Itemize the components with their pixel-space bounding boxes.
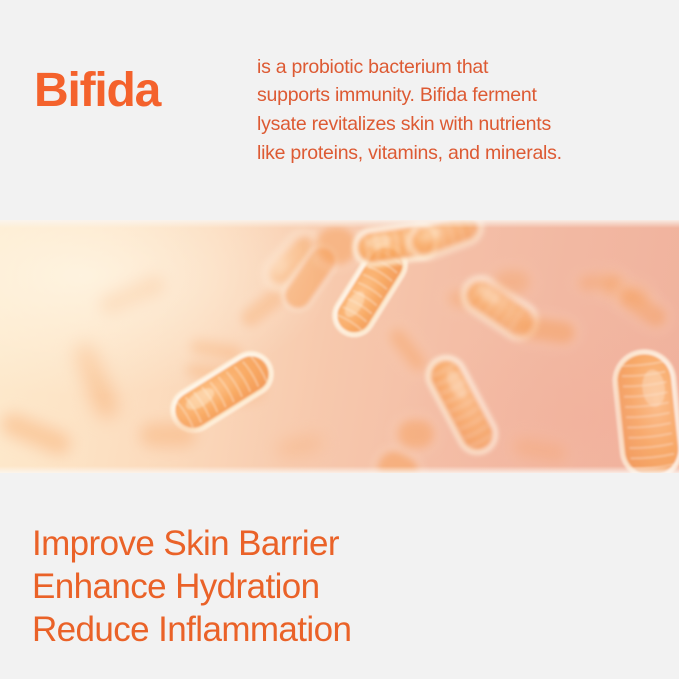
bacterium-shape	[134, 417, 202, 453]
bacterium-shape	[392, 414, 440, 454]
bacterium-shape	[63, 331, 129, 429]
bacterium-shape	[268, 426, 333, 466]
benefit-line: Enhance Hydration	[32, 565, 320, 608]
page-title: Bifida	[34, 62, 160, 120]
bacterium-shape	[488, 264, 536, 300]
bacterium-shape	[507, 308, 583, 352]
bacterium-shape	[609, 346, 679, 473]
bacterium-shape	[89, 264, 175, 324]
intro-section: Bifida is a probiotic bacterium that sup…	[0, 0, 679, 220]
bacteria-hero-image	[0, 220, 679, 473]
bacteria-illustration	[0, 220, 679, 473]
ingredient-description: is a probiotic bacterium that supports i…	[257, 53, 661, 168]
benefit-line: Reduce Inflammation	[32, 608, 351, 651]
benefits-section: Improve Skin Barrier Enhance Hydration R…	[0, 473, 679, 679]
benefit-line: Improve Skin Barrier	[32, 522, 339, 565]
bacterium-shape	[504, 428, 577, 471]
bacterium-shape	[0, 403, 81, 466]
ingredient-info-card: Bifida is a probiotic bacterium that sup…	[0, 0, 679, 679]
